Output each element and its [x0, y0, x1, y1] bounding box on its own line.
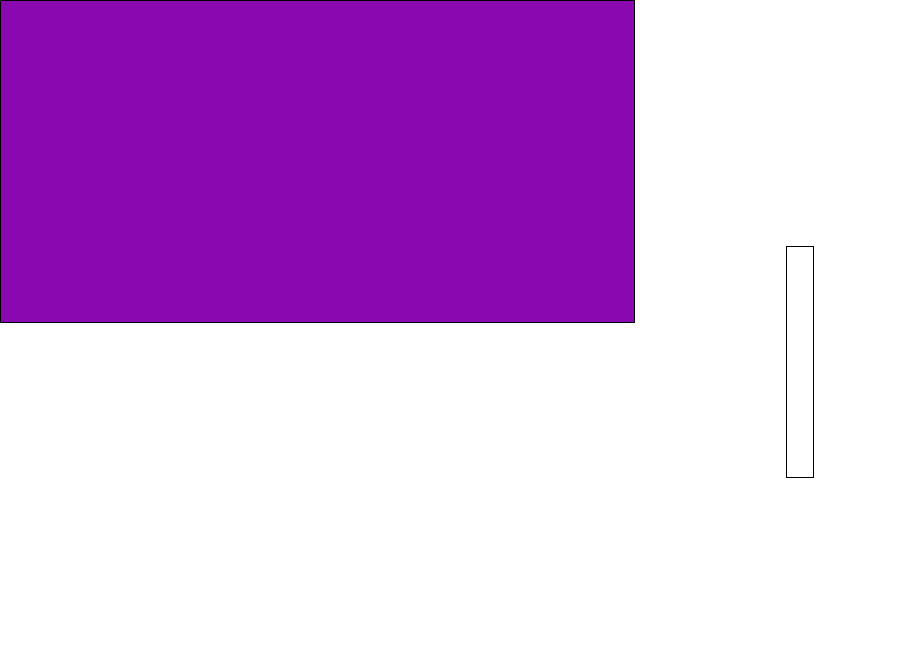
contour-plot-area[interactable]	[0, 0, 635, 323]
colorbar[interactable]	[780, 214, 900, 510]
saturation-field-canvas	[0, 0, 633, 321]
colorbar-segments[interactable]	[786, 246, 814, 478]
colorbar-bottom-arrow	[786, 214, 814, 248]
